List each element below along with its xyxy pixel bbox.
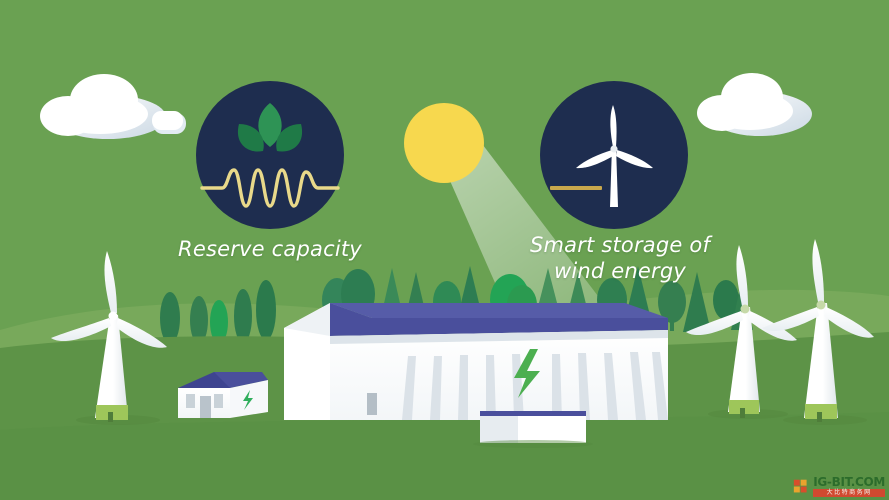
watermark-subtitle: 大比特商务网 xyxy=(813,489,885,497)
cloud-small-left xyxy=(152,111,186,134)
turbine-baseline xyxy=(550,186,602,190)
sun-icon xyxy=(404,103,484,183)
watermark: IG-BIT.COM 大比特商务网 xyxy=(793,476,885,497)
smart-storage-label: Smart storage of wind energy xyxy=(505,232,735,285)
ground-shade xyxy=(0,412,889,500)
reserve-capacity-label: Reserve capacity xyxy=(160,236,380,262)
watermark-site: IG-BIT.COM xyxy=(813,476,885,488)
illustration-scene: Reserve capacity Smart storage of wind e… xyxy=(0,0,889,500)
smart-storage-badge[interactable] xyxy=(540,81,688,229)
ig-bit-logo-icon xyxy=(793,478,810,495)
reserve-capacity-badge[interactable] xyxy=(196,81,344,229)
landscape-layer xyxy=(0,0,889,500)
